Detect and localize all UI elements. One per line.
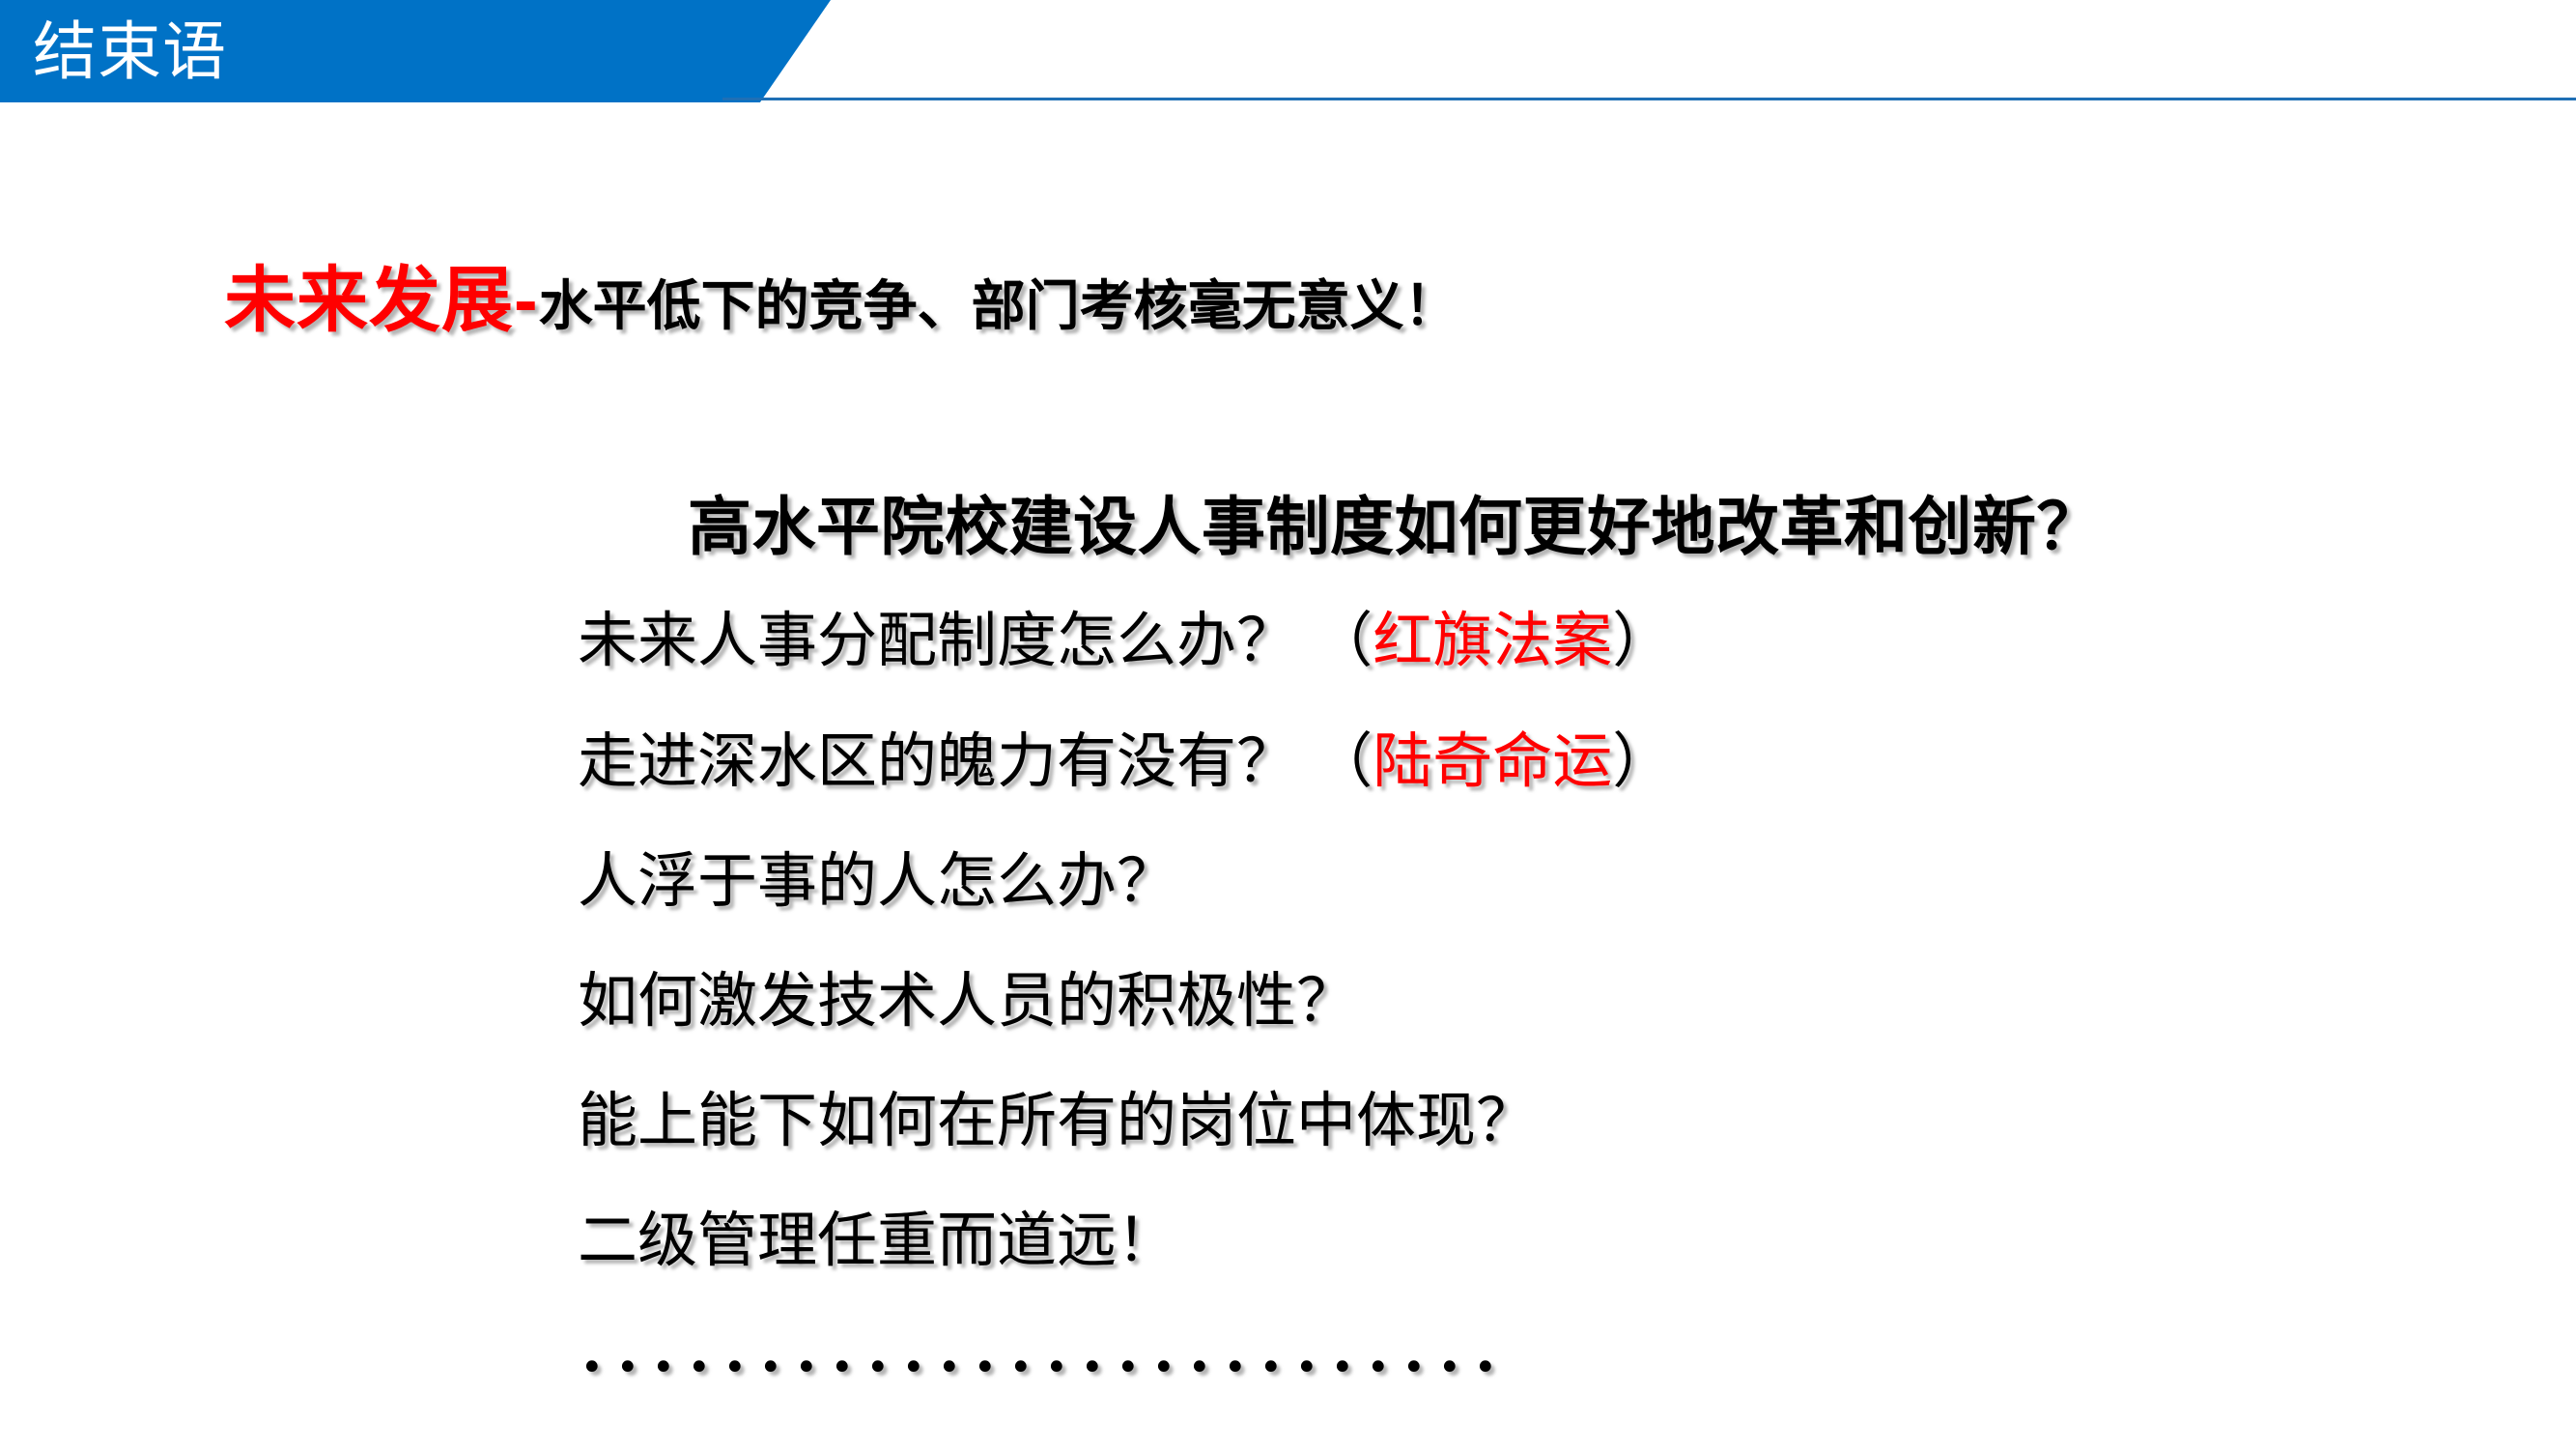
question-tail-2: ） [1612, 728, 1672, 795]
question-text-1: 未来人事分配制度怎么办？ （ [578, 608, 1373, 674]
question-tail-1: ） [1612, 608, 1672, 674]
tagline: 未来发展-水平低下的竞争、部门考核毫无意义！ [224, 266, 1458, 341]
question-text-4: 如何激发技术人员的积极性？ [578, 968, 1356, 1035]
question-item-2: 走进深水区的魄力有没有？ （陆奇命运） [578, 726, 1672, 798]
question-text-6: 二级管理任重而道远！ [578, 1208, 1176, 1274]
slide: 结束语 未来发展-水平低下的竞争、部门考核毫无意义！ 高水平院校建设人事制度如何… [0, 0, 2576, 1450]
tagline-rest: 水平低下的竞争、部门考核毫无意义！ [539, 275, 1458, 336]
question-text-3: 人浮于事的人怎么办？ [578, 848, 1176, 915]
tagline-separator: - [514, 260, 539, 340]
question-text-5: 能上能下如何在所有的岗位中体现？ [578, 1088, 1536, 1154]
question-text-2: 走进深水区的魄力有没有？ （ [578, 728, 1373, 795]
question-item-3: 人浮于事的人怎么办？ [578, 846, 1176, 918]
question-item-6: 二级管理任重而道远！ [578, 1206, 1176, 1277]
question-highlight-1: 红旗法案 [1373, 608, 1612, 674]
question-item-5: 能上能下如何在所有的岗位中体现？ [578, 1086, 1536, 1157]
tagline-emphasis: 未来发展 [224, 260, 514, 340]
question-item-1: 未来人事分配制度怎么办？ （红旗法案） [578, 606, 1672, 677]
question-highlight-2: 陆奇命运 [1373, 728, 1612, 795]
ellipsis-line: ．．．．．．．．．．．．．．．．．．．．．．．．．． [578, 1316, 1537, 1387]
headline-question: 高水平院校建设人事制度如何更好地改革和创新？ [688, 489, 2101, 564]
slide-content: 未来发展-水平低下的竞争、部门考核毫无意义！ 高水平院校建设人事制度如何更好地改… [0, 0, 2576, 1450]
question-item-4: 如何激发技术人员的积极性？ [578, 966, 1356, 1038]
